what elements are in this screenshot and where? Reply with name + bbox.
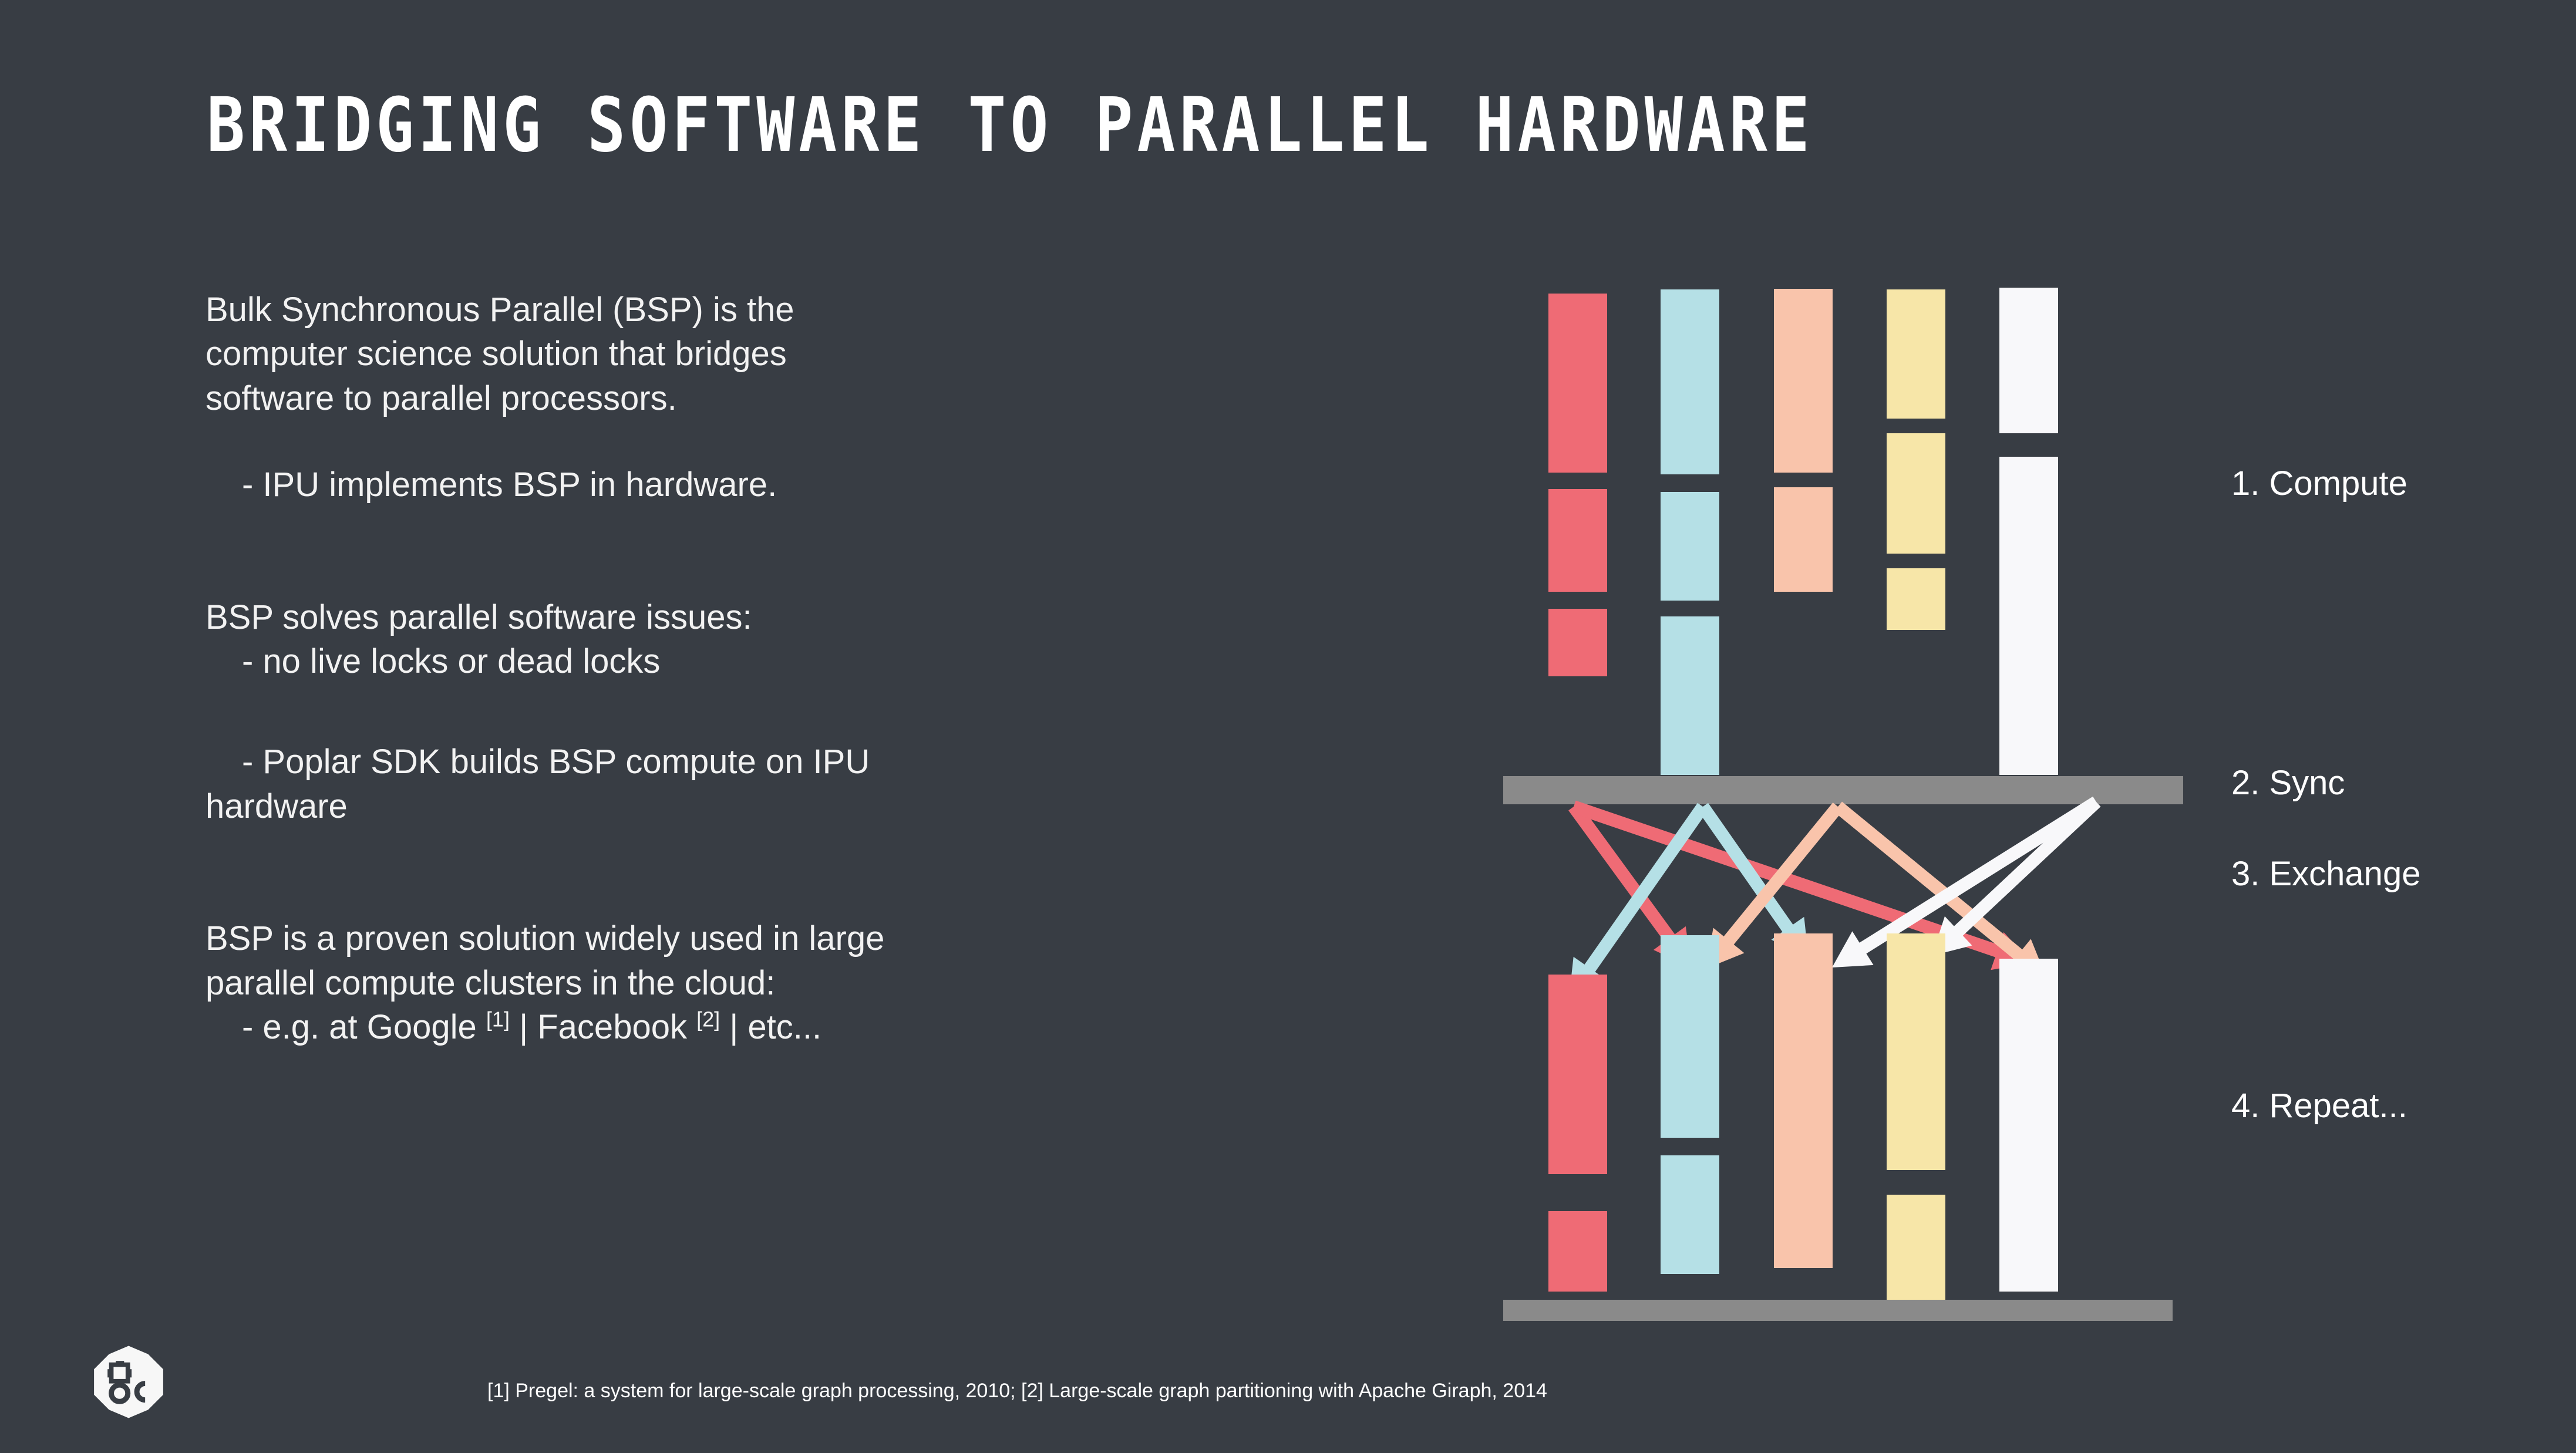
step-label-sync: 2. Sync	[2231, 763, 2345, 803]
exchange-arrows	[0, 0, 2576, 1453]
compute-tile	[1999, 959, 2058, 1292]
arrow-white-a-icon	[1832, 797, 2100, 967]
compute-tile	[1999, 288, 2058, 433]
compute-tile	[1661, 616, 1719, 775]
compute-tile	[1887, 933, 1945, 1170]
compute-tile	[1887, 1195, 1945, 1300]
compute-tile	[1548, 294, 1607, 473]
compute-tile	[1887, 568, 1945, 630]
compute-tile	[1548, 489, 1607, 592]
bsp-diagram: 1. Compute2. Sync3. Exchange4. Repeat...	[0, 0, 2576, 1453]
slide-root: BRIDGING SOFTWARE TO PARALLEL HARDWARE B…	[0, 0, 2576, 1453]
compute-tile	[1774, 487, 1833, 592]
compute-tile	[1548, 1211, 1607, 1292]
compute-tile	[1661, 935, 1719, 1138]
compute-tile	[1548, 609, 1607, 676]
compute-tile	[1661, 289, 1719, 474]
compute-tile	[1999, 457, 2058, 775]
step-label-exchange: 3. Exchange	[2231, 854, 2420, 894]
arrow-white-b-icon	[1932, 797, 2101, 956]
compute-tile	[1887, 289, 1945, 419]
compute-tile	[1887, 433, 1945, 554]
compute-tile	[1774, 933, 1833, 1268]
compute-tile	[1548, 975, 1607, 1174]
compute-tile	[1661, 1155, 1719, 1274]
compute-tile	[1774, 289, 1833, 473]
sync-barrier-bar-bottom	[1503, 1300, 2173, 1321]
compute-tile	[1661, 492, 1719, 601]
step-label-repeat: 4. Repeat...	[2231, 1086, 2407, 1125]
step-label-compute: 1. Compute	[2231, 464, 2407, 503]
sync-barrier-bar-top	[1503, 776, 2183, 804]
